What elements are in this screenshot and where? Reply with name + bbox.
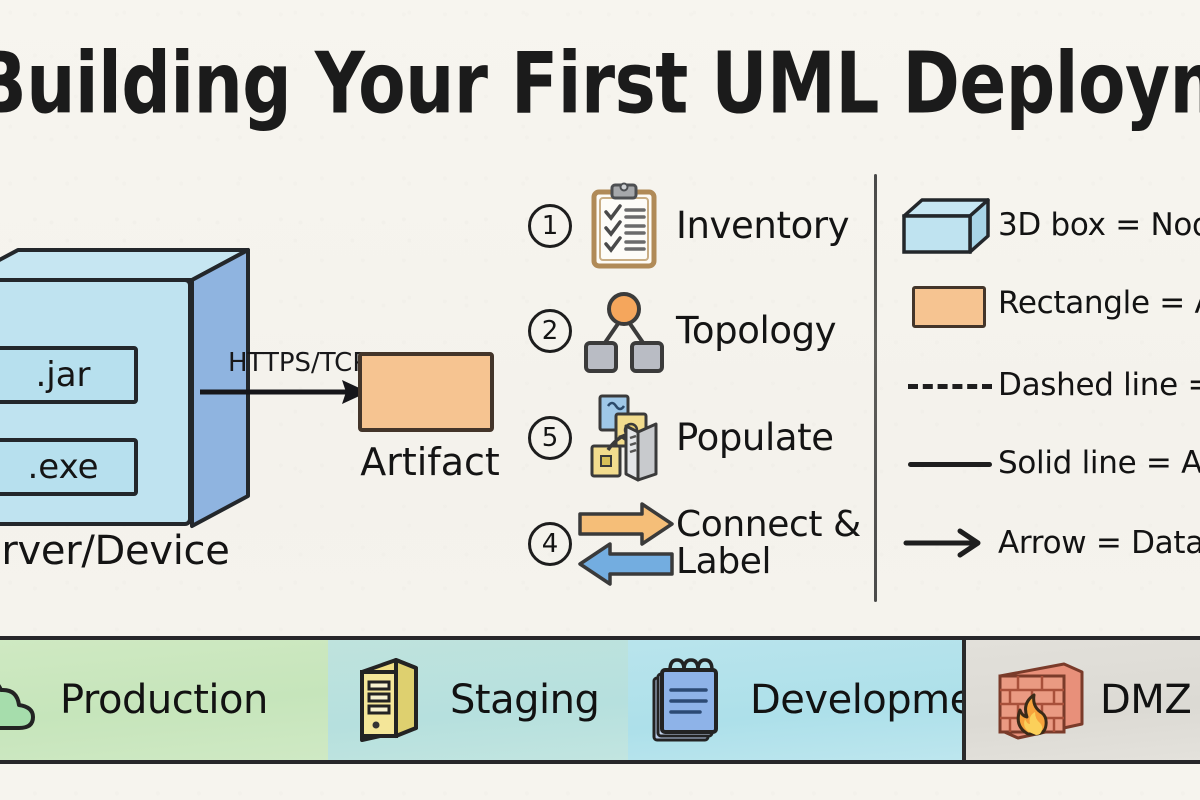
cloud-icon bbox=[0, 654, 42, 746]
node-tree-icon bbox=[578, 285, 670, 377]
step-label-line1: Connect & bbox=[676, 504, 861, 545]
solid-line-icon bbox=[898, 432, 998, 494]
3d-box-icon bbox=[898, 194, 998, 256]
legend-label: 3D box = Node bbox=[998, 207, 1200, 243]
node-artifact-exe-label: .exe bbox=[27, 447, 98, 487]
legend-label: Rectangle = Artifact bbox=[998, 285, 1200, 321]
step-label: Topology bbox=[676, 313, 836, 349]
firewall-icon bbox=[990, 654, 1082, 746]
step-topology[interactable]: 2 Topology bbox=[528, 283, 868, 379]
step-number: 2 bbox=[528, 309, 572, 353]
step-number: 4 bbox=[528, 522, 572, 566]
step-number: 1 bbox=[528, 204, 572, 248]
node-artifact-jar: .jar bbox=[0, 346, 138, 404]
step-inventory[interactable]: 1 Inventory bbox=[528, 178, 868, 274]
two-way-arrows-icon bbox=[578, 498, 670, 590]
step-label: Populate bbox=[676, 420, 834, 456]
dashed-line-icon bbox=[898, 354, 998, 416]
notepad-icon bbox=[640, 654, 732, 746]
legend-item-dataflow: Arrow = Data flow bbox=[898, 504, 1200, 582]
step-populate[interactable]: 5 Populate bbox=[528, 390, 868, 486]
arrow-icon bbox=[898, 512, 998, 574]
environment-bar: Production Staging bbox=[0, 636, 1200, 764]
rectangle-icon bbox=[898, 272, 998, 334]
legend-item-association: Solid line = Association bbox=[898, 424, 1200, 502]
clipboard-checklist-icon bbox=[578, 180, 670, 272]
node-label: Server/Device bbox=[0, 528, 272, 574]
environment-development[interactable]: Development bbox=[628, 640, 962, 760]
legend-label: Solid line = Association bbox=[998, 445, 1200, 481]
step-label-line2: Label bbox=[676, 541, 771, 582]
environment-production[interactable]: Production bbox=[0, 640, 328, 760]
connection-label: HTTPS/TCP bbox=[228, 348, 368, 378]
legend-label: Arrow = Data flow bbox=[998, 525, 1200, 561]
legend-item-artifact: Rectangle = Artifact bbox=[898, 264, 1200, 342]
legend-panel: 3D box = Node Rectangle = Artifact Dashe… bbox=[898, 186, 1200, 596]
steps-list: 1 Inventory 2 bbox=[528, 178, 868, 598]
page-title: Building Your First UML Deployment Diagr… bbox=[0, 28, 1184, 139]
legend-divider bbox=[874, 174, 877, 602]
environment-dmz[interactable]: DMZ bbox=[962, 640, 1200, 760]
step-number: 5 bbox=[528, 416, 572, 460]
environment-label: DMZ bbox=[1100, 677, 1191, 723]
node-artifact-exe: .exe bbox=[0, 438, 138, 496]
environment-label: Production bbox=[60, 677, 268, 723]
connection-arrow-icon bbox=[200, 372, 370, 412]
step-label: Inventory bbox=[676, 208, 849, 244]
step-connect-label[interactable]: 4 Connect & Label bbox=[528, 496, 868, 592]
artifact-shape bbox=[358, 352, 494, 432]
environment-label: Staging bbox=[450, 677, 599, 723]
node-artifact-jar-label: .jar bbox=[35, 355, 90, 395]
environment-staging[interactable]: Staging bbox=[328, 640, 628, 760]
legend-label: Dashed line = Deploy bbox=[998, 367, 1200, 403]
step-label: Connect & Label bbox=[676, 507, 861, 580]
server-icon bbox=[340, 654, 432, 746]
artifact-label: Artifact bbox=[330, 440, 530, 484]
legend-item-node: 3D box = Node bbox=[898, 186, 1200, 264]
deploy-artifacts-icon bbox=[578, 392, 670, 484]
legend-item-deploy: Dashed line = Deploy bbox=[898, 346, 1200, 424]
